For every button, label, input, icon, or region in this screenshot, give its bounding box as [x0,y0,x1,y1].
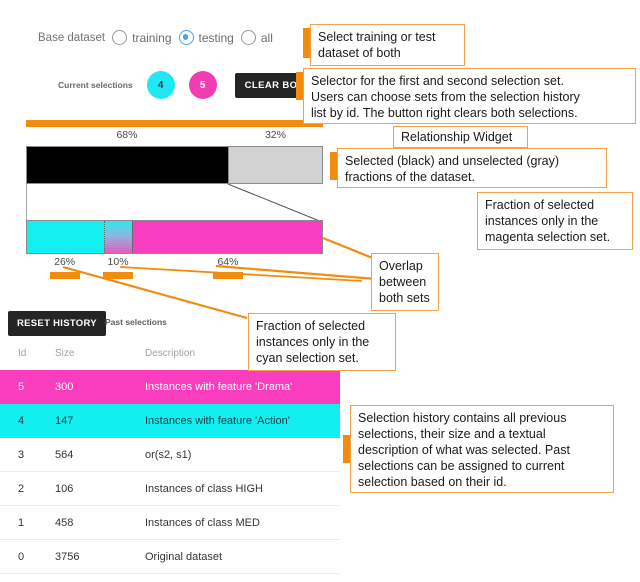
callout-cyan-fraction: Fraction of selected instances only in t… [248,313,396,371]
callout-selected-fractions-line-2: fractions of the dataset. [345,169,600,185]
callout-cyan-fraction-line-1: Fraction of selected [256,318,389,334]
callout-dataset-selector-line-1: Select training or test [318,29,458,45]
annotation-tick-overlap [103,272,133,279]
callout-history-description-line-2: selections, their size and a textual [358,426,607,442]
widget-top-accent-bar [26,120,323,127]
callout-magenta-fraction-line-2: instances only in the [485,213,626,229]
table-cell-size: 3756 [55,551,145,563]
radio-all-icon[interactable] [241,30,256,45]
table-row[interactable]: 1458Instances of class MED [0,506,340,540]
callout-selected-fractions-line-1: Selected (black) and unselected (gray) [345,153,600,169]
table-cell-description: Instances with feature 'Action' [145,415,340,427]
callout-history-description-line-5: selection based on their id. [358,474,607,490]
table-cell-description: Instances of class HIGH [145,483,340,495]
table-row[interactable]: 3564or(s2, s1) [0,438,340,472]
table-row[interactable]: 2106Instances of class HIGH [0,472,340,506]
table-cell-size: 458 [55,517,145,529]
radio-training-label: training [132,31,171,45]
callout-relationship-widget-line-1: Relationship Widget [401,129,521,145]
current-selections-label: Current selections [58,80,133,90]
callout-overlap-line-1: Overlap [379,258,432,274]
funnel-connector [26,184,323,222]
selection-chip-magenta[interactable]: 5 [189,71,217,99]
callout-overlap-line-3: both sets [379,290,432,306]
lower-bar-percent-labels: 26% 10% 64% [26,256,323,270]
callout-selection-sets-line-2: Users can choose sets from the selection… [311,89,629,105]
annotation-tick-magenta [213,272,243,279]
column-header-id[interactable]: Id [0,348,55,359]
current-selections-row: Current selections 4 5 CLEAR BOTH [0,71,321,99]
table-cell-description: Original dataset [145,551,340,563]
callout-history-description-line-1: Selection history contains all previous [358,410,607,426]
table-cell-id: 3 [0,449,55,461]
callout-selection-sets: Selector for the first and second select… [303,68,636,124]
table-cell-id: 4 [0,415,55,427]
table-cell-id: 0 [0,551,55,563]
table-cell-id: 1 [0,517,55,529]
callout-magenta-fraction-line-1: Fraction of selected [485,197,626,213]
radio-option-training[interactable]: training [112,30,171,45]
selection-chip-cyan[interactable]: 4 [147,71,175,99]
callout-dataset-selector-line-2: dataset of both [318,45,458,61]
callout-cyan-fraction-line-2: instances only in the [256,334,389,350]
table-cell-description: Instances of class MED [145,517,340,529]
app-panel: Base dataset training testing all Curren… [0,0,340,582]
upper-bar-label-unselected: 32% [265,129,286,141]
callout-relationship-widget: Relationship Widget [393,126,528,148]
reset-history-button[interactable]: RESET HISTORY [8,311,106,336]
callout-overlap: Overlap between both sets [371,253,439,311]
upper-bar[interactable] [26,146,323,184]
table-cell-id: 2 [0,483,55,495]
past-selections-label: Past selections [105,317,167,327]
radio-option-testing[interactable]: testing [179,30,234,45]
lower-bar-label-magenta: 64% [217,256,238,268]
lower-bar-label-overlap: 10% [108,256,129,268]
radio-option-all[interactable]: all [241,30,273,45]
table-row[interactable]: 5300Instances with feature 'Drama' [0,370,340,404]
radio-testing-icon[interactable] [179,30,194,45]
callout-magenta-fraction-line-3: magenta selection set. [485,229,626,245]
upper-bar-percent-labels: 68% 32% [26,129,323,143]
table-row[interactable]: 4147Instances with feature 'Action' [0,404,340,438]
callout-magenta-fraction: Fraction of selected instances only in t… [477,192,633,250]
lower-bar-segment-cyan[interactable] [27,221,104,253]
selection-history-table: Id Size Description 5300Instances with f… [0,336,340,574]
lower-bar[interactable] [26,220,323,254]
base-dataset-label: Base dataset [38,32,105,44]
radio-training-icon[interactable] [112,30,127,45]
table-body: 5300Instances with feature 'Drama'4147In… [0,370,340,574]
callout-cyan-fraction-line-3: cyan selection set. [256,350,389,366]
table-cell-size: 147 [55,415,145,427]
callout-dataset-selector: Select training or test dataset of both [310,24,465,66]
callout-overlap-line-2: between [379,274,432,290]
callout-selection-sets-line-3: list by id. The button right clears both… [311,105,629,121]
lower-bar-segment-overlap[interactable] [104,221,134,253]
table-cell-description: Instances with feature 'Drama' [145,381,340,393]
lower-bar-segment-magenta[interactable] [133,221,322,253]
upper-bar-segment-unselected[interactable] [228,147,322,183]
table-cell-id: 5 [0,381,55,393]
annotation-tick-cyan [50,272,80,279]
radio-all-label: all [261,31,273,45]
table-cell-description: or(s2, s1) [145,449,340,461]
lower-bar-label-cyan: 26% [54,256,75,268]
radio-testing-label: testing [199,31,234,45]
column-header-size[interactable]: Size [55,348,145,359]
callout-selected-fractions: Selected (black) and unselected (gray) f… [337,148,607,188]
callout-history-description-line-3: description of what was selected. Past [358,442,607,458]
callout-selection-sets-line-1: Selector for the first and second select… [311,73,629,89]
table-cell-size: 564 [55,449,145,461]
upper-bar-segment-selected[interactable] [27,147,228,183]
table-row[interactable]: 03756Original dataset [0,540,340,574]
upper-bar-label-selected: 68% [116,129,137,141]
table-cell-size: 300 [55,381,145,393]
callout-history-description: Selection history contains all previous … [350,405,614,493]
base-dataset-row: Base dataset training testing all [0,30,320,45]
callout-history-description-line-4: selections can be assigned to current [358,458,607,474]
table-cell-size: 106 [55,483,145,495]
